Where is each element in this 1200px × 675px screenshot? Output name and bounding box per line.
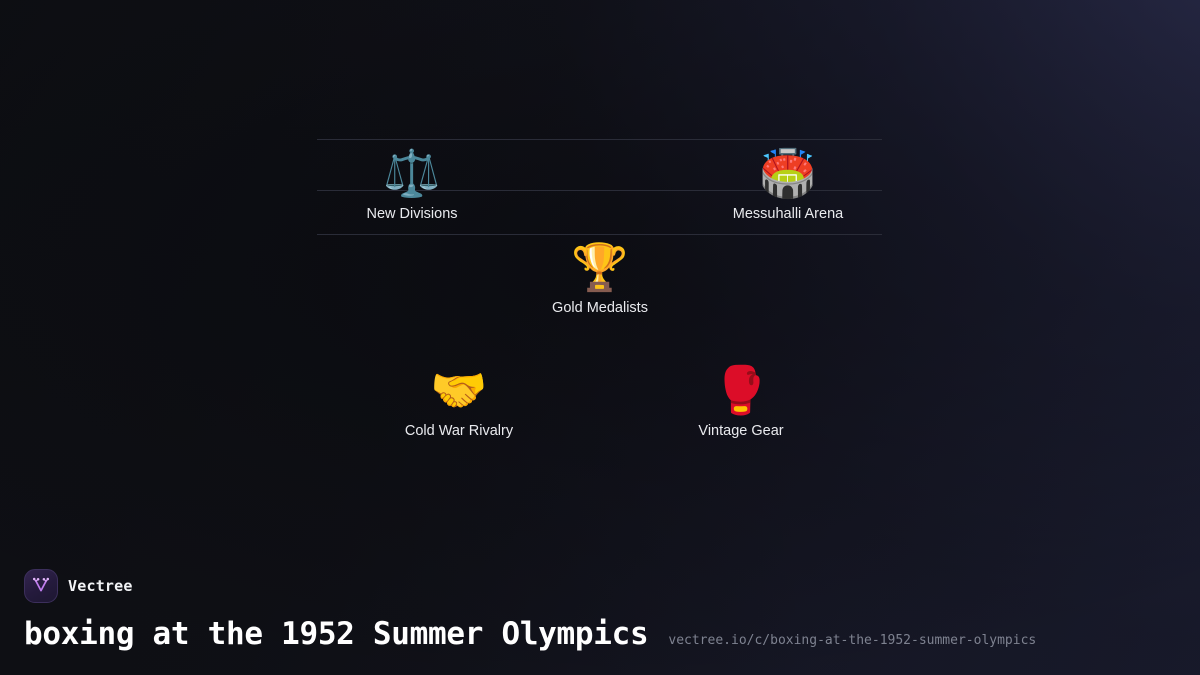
node-card-new-divisions[interactable]: ⚖️ New Divisions [302, 144, 522, 224]
node-label: Cold War Rivalry [405, 421, 513, 441]
footer-title-row: boxing at the 1952 Summer Olympics vectr… [24, 616, 1176, 660]
node-label: Messuhalli Arena [733, 204, 843, 224]
footer-bar: Vectree boxing at the 1952 Summer Olympi… [0, 557, 1200, 675]
trophy-icon: 🏆 [571, 238, 628, 296]
page-url[interactable]: vectree.io/c/boxing-at-the-1952-summer-o… [668, 633, 1036, 648]
node-label: New Divisions [366, 204, 457, 224]
divider-rule-bottom [317, 234, 882, 235]
vectree-logo-icon [24, 569, 58, 603]
node-card-messuhalli-arena[interactable]: 🏟️ Messuhalli Arena [678, 144, 898, 224]
node-card-gold-medalists[interactable]: 🏆 Gold Medalists [490, 238, 710, 318]
node-label: Gold Medalists [552, 298, 648, 318]
divider-rule-top [317, 139, 882, 140]
stadium-icon: 🏟️ [759, 144, 816, 202]
node-card-vintage-gear[interactable]: 🥊 Vintage Gear [631, 361, 851, 441]
brand-name: Vectree [68, 577, 133, 595]
node-label: Vintage Gear [698, 421, 783, 441]
node-card-cold-war-rivalry[interactable]: 🤝 Cold War Rivalry [349, 361, 569, 441]
brand-block[interactable]: Vectree [24, 569, 133, 603]
page-title: boxing at the 1952 Summer Olympics [24, 616, 648, 652]
handshake-icon: 🤝 [430, 361, 487, 419]
boxing-glove-icon: 🥊 [712, 361, 769, 419]
balance-scale-icon: ⚖️ [383, 144, 440, 202]
